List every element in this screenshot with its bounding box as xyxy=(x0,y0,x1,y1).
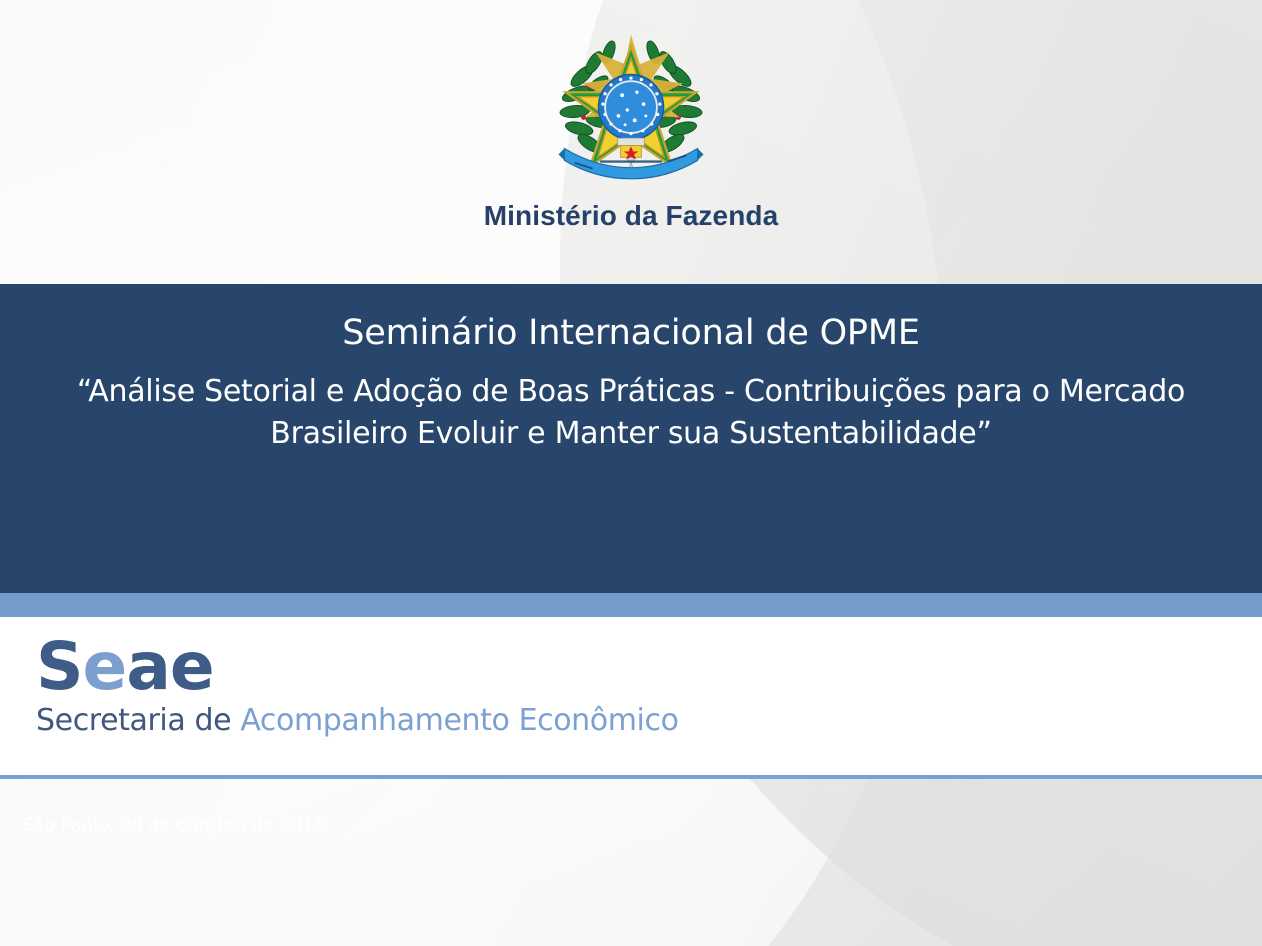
presentation-slide: Ministério da Fazenda Seminário Internac… xyxy=(0,0,1262,946)
slide-footer xyxy=(0,779,1262,946)
event-place-date: São Paulo, 20 de outubro de 2015. xyxy=(22,814,330,838)
seae-tagline: Secretaria de Acompanhamento Econômico xyxy=(36,702,679,740)
seae-wordmark-s: S xyxy=(36,628,83,705)
title-band: Seminário Internacional de OPME “Análise… xyxy=(0,284,1262,593)
seae-wordmark: Seae xyxy=(36,630,679,704)
event-title: Seminário Internacional de OPME xyxy=(22,284,1240,355)
seae-wordmark-e: e xyxy=(83,628,127,705)
brazil-coat-of-arms-icon xyxy=(557,30,705,190)
logo-band: Seae Secretaria de Acompanhamento Econôm… xyxy=(0,617,1262,775)
seae-tagline-light: Acompanhamento Econômico xyxy=(240,703,678,738)
ministry-title: Ministério da Fazenda xyxy=(484,200,779,232)
event-subtitle: “Análise Setorial e Adoção de Boas Práti… xyxy=(22,355,1240,455)
logo-band-bottom-rule xyxy=(0,775,1262,779)
slide-header: Ministério da Fazenda xyxy=(0,0,1262,284)
seae-logo: Seae Secretaria de Acompanhamento Econôm… xyxy=(36,630,679,740)
seae-wordmark-ae: ae xyxy=(126,628,213,705)
accent-divider-band xyxy=(0,593,1262,617)
seae-tagline-dark: Secretaria de xyxy=(36,703,240,738)
